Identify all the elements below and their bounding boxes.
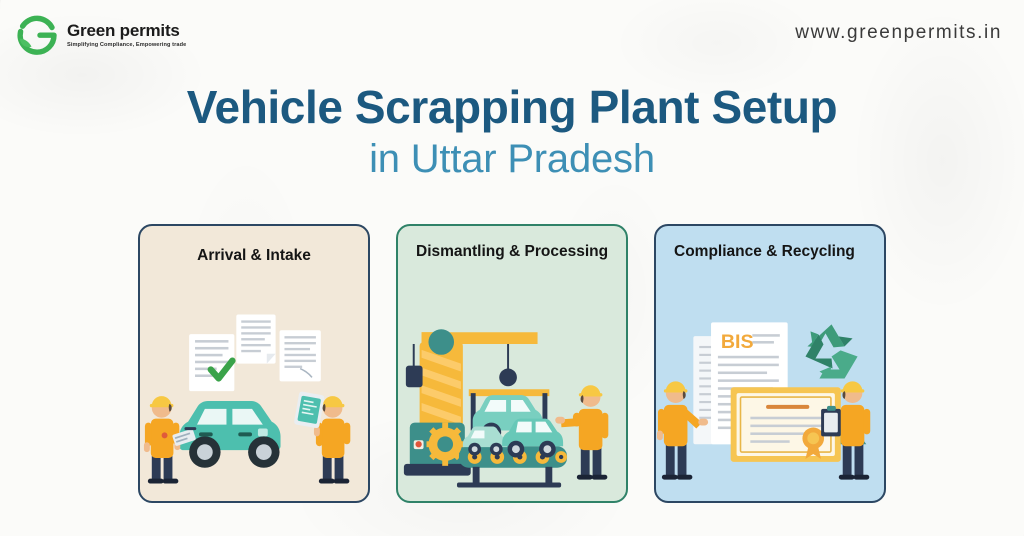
- card-title-compliance-recycling: Compliance & Recycling: [674, 242, 870, 261]
- page-title-line1: Vehicle Scrapping Plant Setup: [0, 80, 1024, 134]
- card-title-arrival-intake: Arrival & Intake: [150, 246, 358, 265]
- infographic-page: Green permits Simplifying Compliance, Em…: [0, 0, 1024, 536]
- illustration-compliance-recycling: BIS: [656, 305, 884, 495]
- process-cards-row: Arrival & Intake: [0, 224, 1024, 503]
- card-title-dismantling-processing: Dismantling & Processing: [416, 242, 612, 261]
- brand-name: Green permits: [67, 22, 186, 40]
- brand-tagline: Simplifying Compliance, Empowering trade: [67, 42, 186, 48]
- card-compliance-recycling[interactable]: Compliance & Recycling: [654, 224, 886, 503]
- website-url[interactable]: www.greenpermits.in: [795, 22, 1002, 44]
- green-g-leaf-icon: [14, 12, 60, 58]
- card-arrival-intake[interactable]: Arrival & Intake: [138, 224, 370, 503]
- page-title-line2: in Uttar Pradesh: [0, 137, 1024, 182]
- brand-logo-block[interactable]: Green permits Simplifying Compliance, Em…: [14, 12, 186, 58]
- brand-text: Green permits Simplifying Compliance, Em…: [67, 22, 186, 48]
- card-dismantling-processing[interactable]: Dismantling & Processing: [396, 224, 628, 503]
- illustration-dismantling-processing: [398, 305, 626, 495]
- illustration-arrival-intake: [140, 305, 368, 495]
- bis-document-label: BIS: [721, 331, 754, 353]
